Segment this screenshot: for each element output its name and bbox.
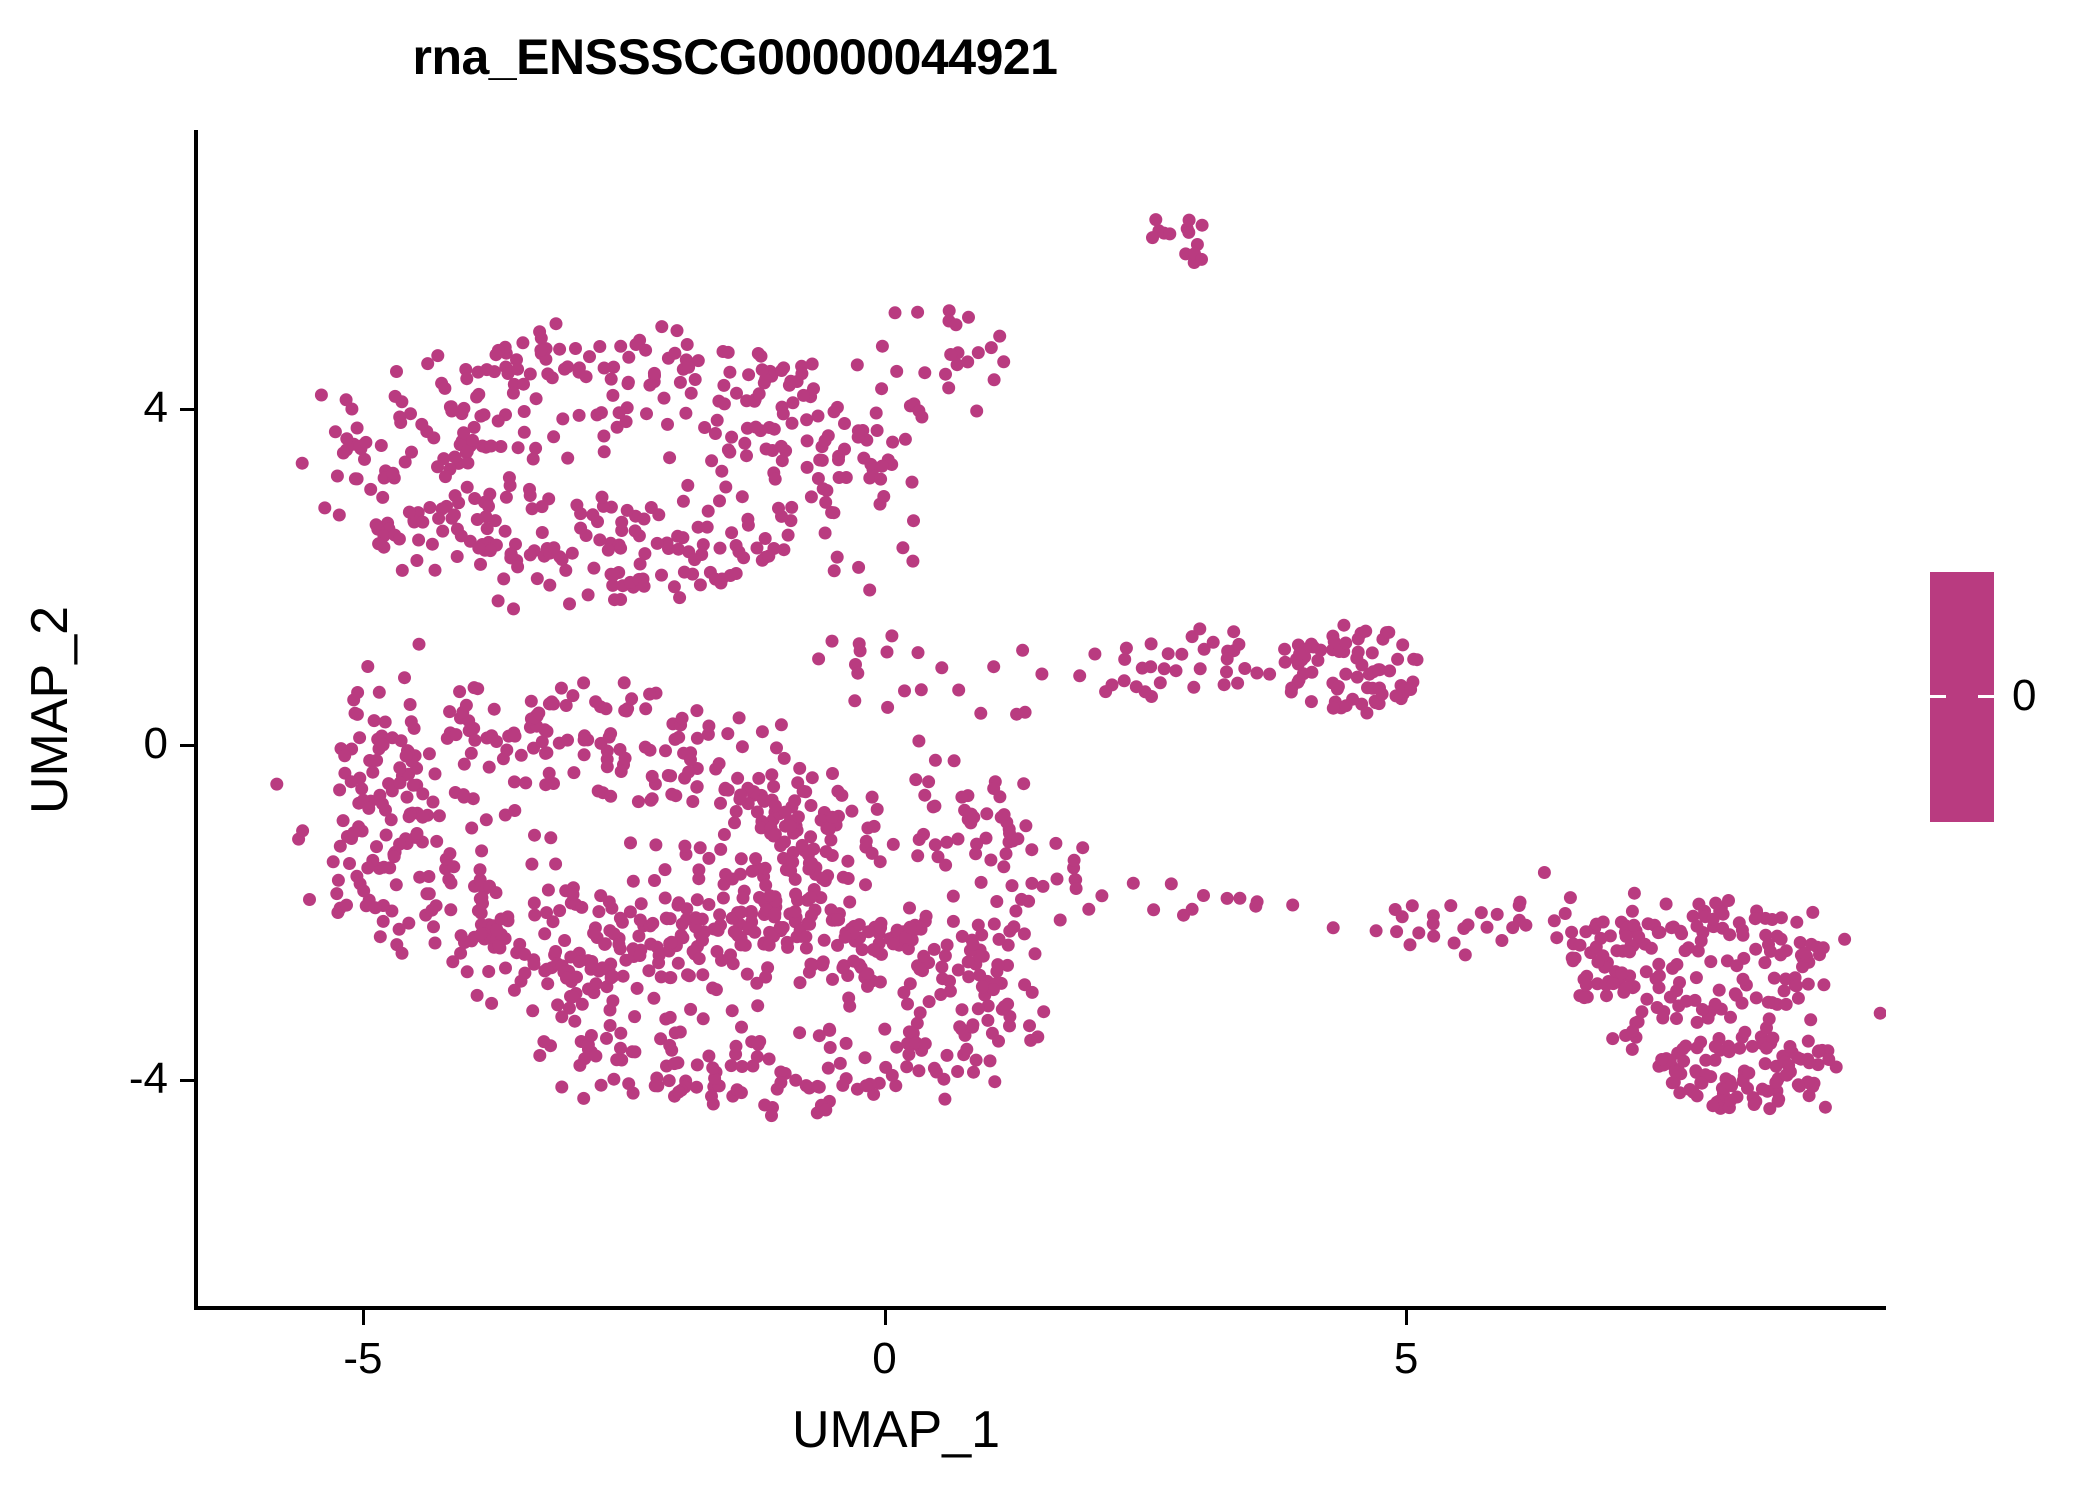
- x-tick-mark: [362, 1309, 365, 1325]
- scatter-points-layer: [196, 132, 1886, 1307]
- x-tick-mark: [884, 1309, 887, 1325]
- y-axis-line: [194, 130, 198, 1310]
- x-axis-line: [194, 1306, 1886, 1310]
- x-tick-label: 0: [795, 1337, 975, 1381]
- y-tick-mark: [180, 1079, 196, 1082]
- scatter-plot-area: [196, 132, 1886, 1307]
- y-axis-title: UMAP_2: [20, 360, 80, 1060]
- colorbar-tick-label-0: 0: [2012, 674, 2036, 718]
- x-axis-title: UMAP_1: [196, 1400, 1596, 1460]
- x-tick-mark: [1405, 1309, 1408, 1325]
- colorbar-tick-left: [1930, 695, 1946, 698]
- page-title: rna_ENSSSCG00000044921: [0, 28, 1470, 86]
- umap-feature-plot: rna_ENSSSCG00000044921 -404 -505 UMAP_2 …: [0, 0, 2100, 1500]
- y-tick-mark: [180, 744, 196, 747]
- legend-colorbar: 0: [1930, 572, 2090, 932]
- colorbar-tick-right: [1978, 695, 1994, 698]
- x-tick-label: -5: [273, 1337, 453, 1381]
- colorbar-gradient: [1930, 572, 1994, 822]
- y-tick-mark: [180, 408, 196, 411]
- x-tick-label: 5: [1316, 1337, 1496, 1381]
- y-tick-label: -4: [0, 1057, 168, 1101]
